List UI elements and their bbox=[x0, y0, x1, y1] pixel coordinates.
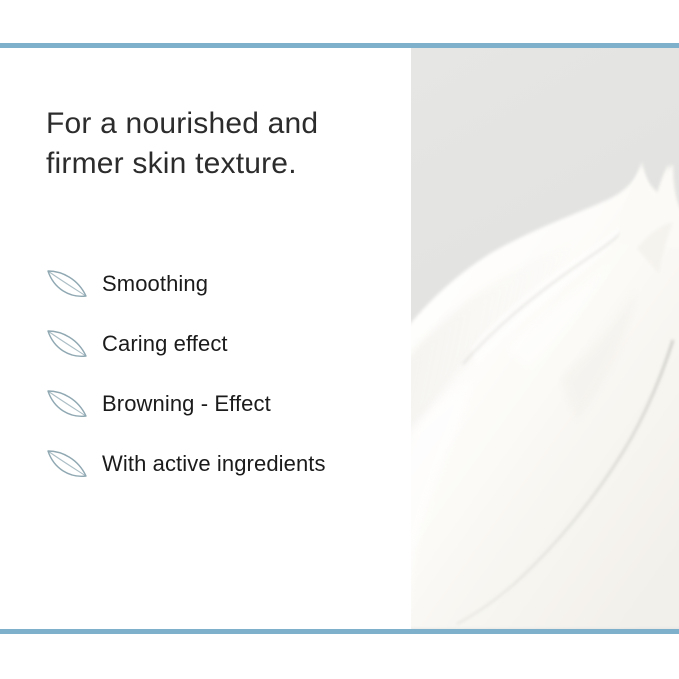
list-item: With active ingredients bbox=[46, 434, 396, 494]
text-content: For a nourished and firmer skin texture.… bbox=[46, 104, 396, 184]
list-item-label: Smoothing bbox=[102, 271, 208, 297]
cream-smear-graphic bbox=[411, 48, 679, 629]
list-item: Smoothing bbox=[46, 254, 396, 314]
cream-swatch-photo bbox=[411, 48, 679, 629]
list-item-label: With active ingredients bbox=[102, 451, 326, 477]
list-item: Caring effect bbox=[46, 314, 396, 374]
bottom-divider-rule bbox=[0, 629, 679, 634]
page-title: For a nourished and firmer skin texture. bbox=[46, 104, 396, 184]
leaf-icon bbox=[46, 327, 88, 361]
leaf-icon bbox=[46, 267, 88, 301]
leaf-icon bbox=[46, 387, 88, 421]
list-item-label: Browning - Effect bbox=[102, 391, 271, 417]
list-item: Browning - Effect bbox=[46, 374, 396, 434]
promo-graphic: For a nourished and firmer skin texture.… bbox=[0, 0, 679, 679]
feature-list: Smoothing Caring effect bbox=[46, 254, 396, 494]
leaf-icon bbox=[46, 447, 88, 481]
list-item-label: Caring effect bbox=[102, 331, 228, 357]
